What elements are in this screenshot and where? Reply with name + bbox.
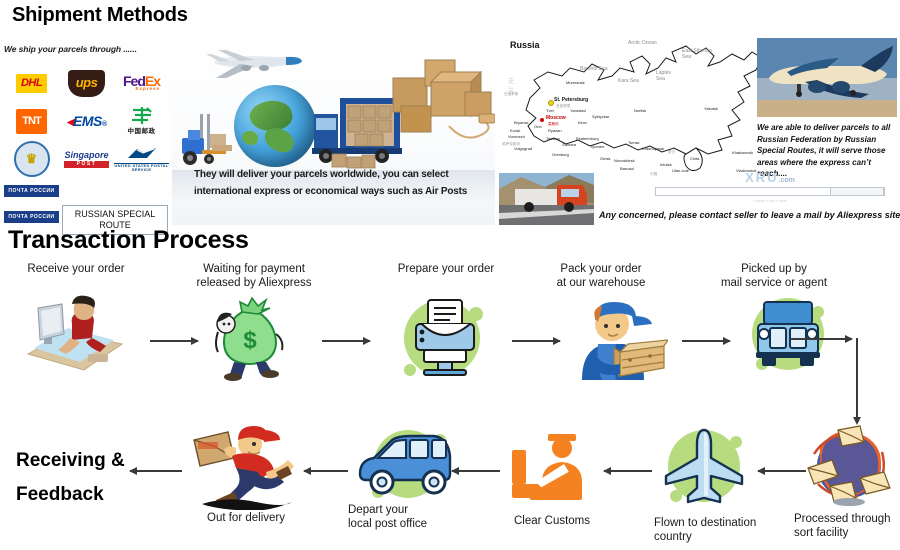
city-label-kursk: Kursk bbox=[510, 128, 520, 133]
xru-search-button[interactable] bbox=[830, 187, 884, 196]
map-cn-labels-left2: 白俄罗斯 bbox=[504, 92, 518, 97]
city-label-krasnoyarsk: Krasnoyarsk bbox=[642, 146, 664, 151]
mail-sorting-icon bbox=[804, 424, 894, 506]
carrier-cell-russian-post: ♛ bbox=[4, 141, 59, 177]
city-label-kirov: Kirov bbox=[578, 120, 587, 125]
map-dot-moscow bbox=[540, 118, 544, 122]
tnt-logo-icon: TNT bbox=[16, 109, 46, 134]
running-courier-icon bbox=[188, 424, 300, 510]
logistics-photo-panel: They will deliver your parcels worldwide… bbox=[172, 30, 495, 225]
step-label-flown-l2: country bbox=[654, 530, 786, 544]
russia-special-badge-1: ПОЧТА РОССИИ bbox=[4, 185, 58, 197]
step-label-out-for-delivery: Out for delivery bbox=[186, 511, 306, 525]
sea-label-barents: Barents Sea bbox=[580, 66, 608, 72]
dhl-logo-icon: DHL bbox=[16, 74, 47, 93]
airplane-icon bbox=[656, 424, 752, 510]
step-label-sort-l2: sort facility bbox=[794, 526, 900, 540]
carrier-cell-tnt: TNT bbox=[4, 103, 59, 139]
xru-links-row[interactable]: ▪ ▪▪▪▪▪▪ ▪ ▪▪▪▪ ▪ ▪▪▪▪▪ bbox=[655, 199, 885, 203]
fedex-logo-icon: FedEx Express bbox=[123, 74, 160, 92]
step-label-flown-l1: Flown to destination bbox=[654, 516, 786, 530]
flow-arrow-5-horizontal bbox=[790, 338, 852, 340]
city-label-yakutsk: Yakutsk bbox=[704, 106, 718, 111]
carrier-logo-row: TNT ◂EMS® 中国邮政 bbox=[4, 102, 170, 140]
highway-truck-photo bbox=[499, 173, 594, 225]
highway-truck-icon bbox=[499, 173, 594, 225]
forklift-icon bbox=[178, 112, 236, 170]
step-label-picked-up-l1: Picked up by bbox=[690, 262, 858, 276]
ems-logo-icon: ◂EMS® bbox=[66, 114, 106, 128]
map-cn-labels-left3: 哈萨克斯坦 bbox=[502, 142, 520, 147]
carriers-caption: We ship your parcels through ...... bbox=[4, 44, 137, 54]
step-label-prepare-order: Prepare your order bbox=[366, 262, 526, 276]
city-label-tyumen: Tyumen bbox=[590, 144, 604, 149]
step-label-picked-up: Picked up by mail service or agent bbox=[690, 262, 858, 290]
carrier-cell-usps: UNITED STATES POSTAL SERVICE bbox=[114, 141, 169, 177]
sea-label-east-siberian: East SiberianSea bbox=[682, 48, 712, 60]
city-label-ryazan: Ryazan bbox=[548, 128, 562, 133]
flow-arrow-1 bbox=[150, 340, 198, 342]
city-label-tver: Tver bbox=[546, 108, 554, 113]
delivery-truck-icon bbox=[742, 294, 838, 380]
person-at-computer-icon bbox=[14, 294, 132, 379]
city-label-tambov: Tambov bbox=[546, 136, 560, 141]
logistics-caption-line2: international express or economical ways… bbox=[194, 183, 494, 200]
step-label-receiving-feedback: Receiving & Feedback bbox=[16, 444, 136, 512]
carrier-logos-panel: We ship your parcels through ...... DHL … bbox=[0, 30, 172, 225]
city-label-barnaul: Barnaul bbox=[620, 166, 634, 171]
flow-arrow-3 bbox=[512, 340, 560, 342]
xru-site-widget[interactable]: XRU.com ▪ ▪▪▪▪▪▪ ▪ ▪▪▪▪ ▪ ▪▪▪▪▪ bbox=[655, 170, 885, 203]
carrier-cell-ems: ◂EMS® bbox=[59, 103, 114, 139]
city-label-bryansk: Bryansk bbox=[514, 120, 528, 125]
carrier-cell-rus-special-2: ПОЧТА РОССИИ bbox=[4, 206, 59, 228]
step-label-sort-facility: Processed through sort facility bbox=[794, 512, 900, 540]
step-icon-prepare-order bbox=[394, 294, 494, 380]
step-icon-picked-up bbox=[742, 294, 838, 380]
customs-officer-icon bbox=[506, 430, 598, 508]
flow-arrow-8 bbox=[452, 470, 500, 472]
city-label-chita: Chita bbox=[690, 156, 699, 161]
receiving-feedback-line1: Receiving & bbox=[16, 444, 136, 478]
xru-search-bar[interactable] bbox=[655, 187, 885, 196]
logistics-caption-line1: They will deliver your parcels worldwide… bbox=[194, 166, 494, 183]
city-label-yaroslavl: Yaroslavl bbox=[570, 108, 586, 113]
carrier-cell-fedex: FedEx Express bbox=[114, 65, 169, 101]
map-cn-labels-bottom: 蒙古 bbox=[668, 150, 675, 155]
printer-icon bbox=[394, 294, 494, 380]
step-label-depart-l1: Depart your bbox=[348, 503, 464, 517]
city-label-ekaterinburg: Ekaterinburg bbox=[576, 136, 599, 141]
city-label-voronezh: Voronezh bbox=[508, 134, 525, 139]
city-label-tomsk: Tomsk bbox=[628, 140, 640, 145]
carrier-logo-row: ♛ Singapore POST bbox=[4, 140, 170, 178]
step-label-pack-order-l2: at our warehouse bbox=[536, 276, 666, 290]
flow-arrow-10 bbox=[130, 470, 182, 472]
city-label-moscow-cn: 莫斯科 bbox=[548, 122, 559, 127]
city-label-norilsk: Norilsk bbox=[634, 108, 646, 113]
ups-logo-icon: ups bbox=[68, 70, 106, 97]
russia-map: Russia Arctic Ocean East SiberianSea Bar… bbox=[500, 32, 785, 187]
step-label-waiting-payment: Waiting for payment released by Aliexpre… bbox=[174, 262, 334, 290]
china-post-logo-icon: 中国邮政 bbox=[128, 106, 156, 136]
russia-special-badge-2: ПОЧТА РОССИИ bbox=[4, 211, 58, 223]
singapore-script-text: Singapore bbox=[64, 150, 108, 160]
flow-arrow-5-vertical bbox=[856, 338, 858, 418]
globe-icon bbox=[234, 85, 316, 167]
city-label-samara: Samara bbox=[562, 142, 576, 147]
page-title-shipment-methods: Shipment Methods bbox=[12, 4, 188, 27]
usps-logo-icon: UNITED STATES POSTAL SERVICE bbox=[114, 147, 169, 172]
cargo-plane-icon bbox=[757, 38, 897, 117]
globe-landmass bbox=[242, 131, 258, 145]
carrier-logo-row: ПОЧТА РОССИИ bbox=[4, 178, 170, 204]
step-icon-flown-destination bbox=[656, 424, 752, 510]
step-icon-depart-post-office bbox=[352, 426, 456, 508]
singapore-post-logo-icon: Singapore POST bbox=[64, 151, 108, 168]
page-title-transaction-process: Transaction Process bbox=[8, 226, 249, 255]
flow-arrow-4 bbox=[682, 340, 730, 342]
city-label-orel: Orel bbox=[534, 124, 542, 129]
usps-eagle-icon bbox=[127, 147, 157, 160]
logistics-caption: They will deliver your parcels worldwide… bbox=[194, 166, 494, 200]
step-label-depart-l2: local post office bbox=[348, 517, 464, 531]
city-label-khabarovsk: Khabarovsk bbox=[732, 150, 753, 155]
step-label-clear-customs: Clear Customs bbox=[494, 514, 610, 528]
step-label-waiting-payment-l2: released by Aliexpress bbox=[174, 276, 334, 290]
carrier-cell-dhl: DHL bbox=[4, 65, 59, 101]
receiving-feedback-line2: Feedback bbox=[16, 478, 136, 512]
step-icon-out-for-delivery bbox=[188, 424, 300, 510]
xru-logo-suffix: .com bbox=[779, 177, 795, 184]
china-post-glyph-icon bbox=[129, 106, 155, 126]
china-post-chinese-text: 中国邮政 bbox=[128, 129, 156, 136]
step-icon-receive-order bbox=[14, 294, 132, 379]
step-label-pack-order-l1: Pack your order bbox=[536, 262, 666, 276]
infographic-page: Shipment Methods We ship your parcels th… bbox=[0, 0, 900, 550]
step-label-waiting-payment-l1: Waiting for payment bbox=[174, 262, 334, 276]
flow-arrow-2 bbox=[322, 340, 370, 342]
svg-text:$: $ bbox=[243, 327, 257, 354]
singapore-post-badge: POST bbox=[64, 161, 108, 168]
cardboard-boxes-icon bbox=[387, 48, 495, 158]
sea-label-kara: Kara Sea bbox=[618, 78, 639, 84]
ems-slash: ◂ bbox=[66, 113, 73, 129]
step-label-pack-order: Pack your order at our warehouse bbox=[536, 262, 666, 290]
airplane-photo-icon bbox=[190, 48, 310, 84]
xru-logo: XRU.com bbox=[655, 170, 885, 185]
flow-arrow-9 bbox=[304, 470, 348, 472]
russia-footer-note: Any concerned, please contact seller to … bbox=[599, 210, 899, 220]
russia-delivery-panel: Russia Arctic Ocean East SiberianSea Bar… bbox=[495, 30, 900, 225]
city-label-syktyvkar: Syktyvkar bbox=[592, 114, 609, 119]
sea-label-laptev: LaptevSea bbox=[656, 70, 671, 82]
carrier-cell-ups: ups bbox=[59, 65, 114, 101]
city-label-st-petersburg-cn: 圣彼得堡 bbox=[556, 104, 570, 109]
russian-post-logo-icon: ♛ bbox=[14, 141, 50, 177]
step-label-picked-up-l2: mail service or agent bbox=[690, 276, 858, 290]
worker-packing-icon bbox=[568, 294, 668, 382]
carrier-cell-china-post: 中国邮政 bbox=[114, 103, 169, 139]
sea-label-arctic-ocean: Arctic Ocean bbox=[628, 40, 657, 46]
step-icon-waiting-payment: $ bbox=[208, 292, 302, 382]
city-label-orenburg: Orenburg bbox=[552, 152, 569, 157]
xru-logo-text: XRU bbox=[745, 170, 778, 185]
step-label-flown-destination: Flown to destination country bbox=[654, 516, 786, 544]
step-label-receive-order: Receive your order bbox=[0, 262, 152, 276]
step-label-sort-l1: Processed through bbox=[794, 512, 900, 526]
step-label-depart-post-office: Depart your local post office bbox=[348, 503, 464, 531]
money-bag-icon: $ bbox=[208, 292, 302, 382]
usps-subtext: UNITED STATES POSTAL SERVICE bbox=[114, 163, 169, 172]
step-icon-clear-customs bbox=[506, 430, 598, 508]
step-icon-sort-facility bbox=[804, 424, 894, 506]
flow-arrow-7 bbox=[604, 470, 652, 472]
carrier-cell-rus-special-1: ПОЧТА РОССИИ bbox=[4, 183, 59, 199]
carrier-cell-singapore-post: Singapore POST bbox=[59, 141, 114, 177]
city-label-omsk: Omsk bbox=[600, 156, 610, 161]
cargo-plane-photo bbox=[757, 38, 897, 117]
city-label-irkutsk: Irkutsk bbox=[660, 162, 672, 167]
globe-landmass bbox=[261, 125, 296, 155]
city-label-st-petersburg: St. Petersburg bbox=[554, 97, 588, 103]
city-label-moscow: Moscow bbox=[546, 115, 566, 121]
carrier-logo-row: DHL ups FedEx Express bbox=[4, 64, 170, 102]
city-label-novosibirsk: Novosibirsk bbox=[614, 158, 635, 163]
step-icon-pack-order bbox=[568, 294, 668, 382]
flow-arrow-6 bbox=[758, 470, 806, 472]
shipment-methods-band: We ship your parcels through ...... DHL … bbox=[0, 30, 900, 225]
van-icon bbox=[352, 426, 456, 508]
city-label-murmansk: Murmansk bbox=[566, 80, 585, 85]
